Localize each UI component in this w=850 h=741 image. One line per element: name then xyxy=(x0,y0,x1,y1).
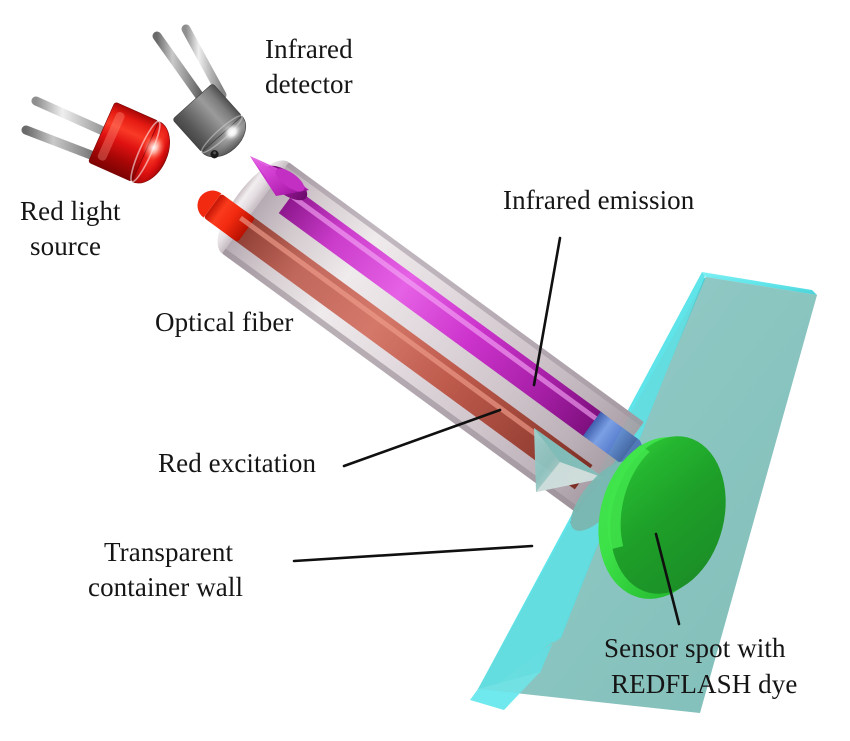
label-optical-fiber: Optical fiber xyxy=(155,307,294,337)
label-sensor-spot-line1: Sensor spot with xyxy=(604,633,786,663)
label-sensor-spot-line2: REDFLASH dye xyxy=(611,669,797,699)
label-red-light-source-line2: source xyxy=(30,231,101,261)
figure-root: Infrared detector Red light source Optic… xyxy=(0,0,850,741)
label-red-light-source-line1: Red light xyxy=(20,196,121,226)
label-red-excitation: Red excitation xyxy=(158,448,317,478)
label-container-wall-line1: Transparent xyxy=(104,537,233,567)
label-infrared-detector-line1: Infrared xyxy=(265,34,353,64)
label-container-wall-line2: container wall xyxy=(88,572,243,602)
label-infrared-emission: Infrared emission xyxy=(503,185,695,215)
label-infrared-detector-line2: detector xyxy=(265,69,353,99)
sensor-principle-diagram: Infrared detector Red light source Optic… xyxy=(0,0,850,741)
